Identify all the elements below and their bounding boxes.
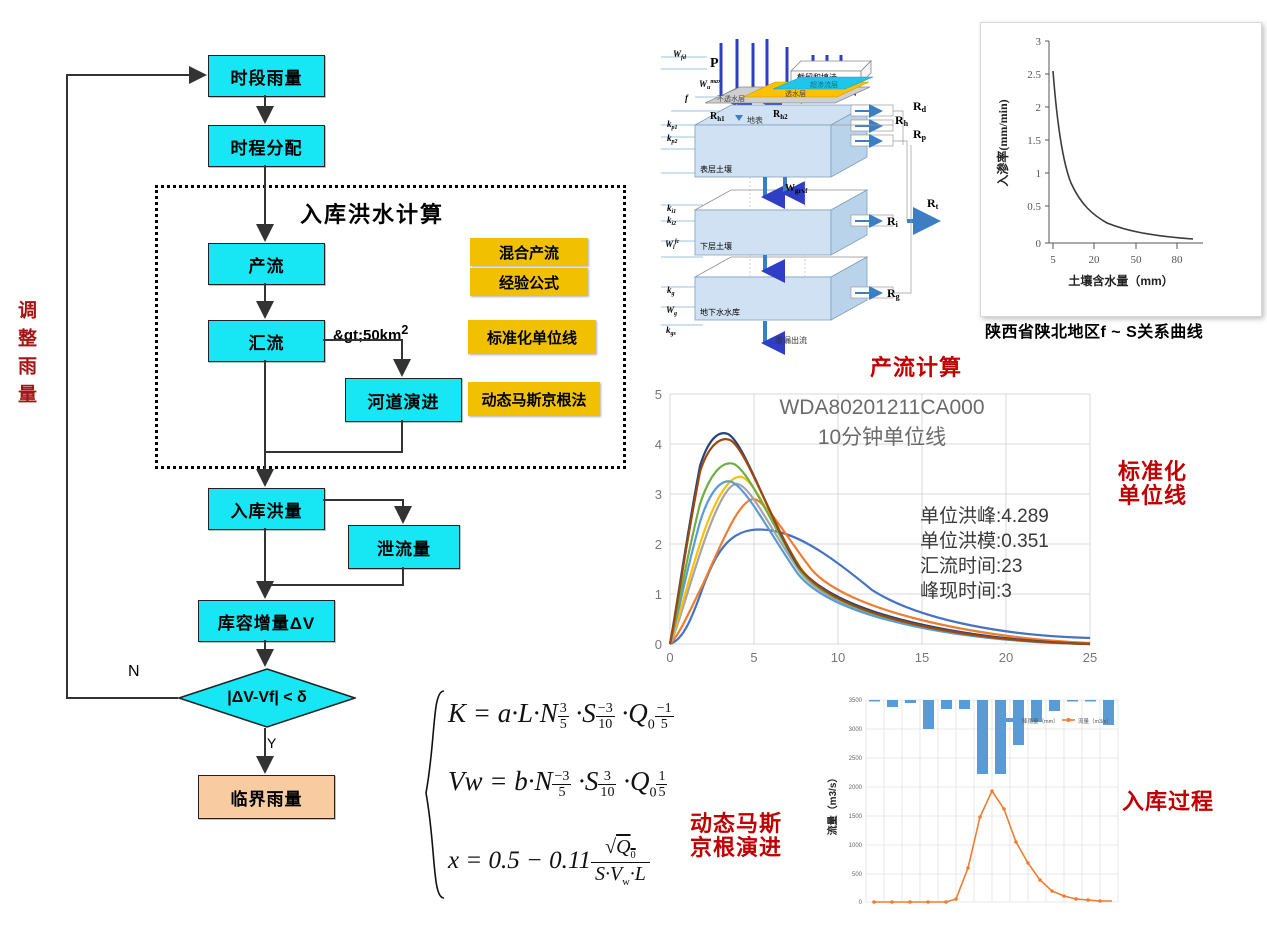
edge-label-yes: Y xyxy=(267,735,276,751)
svg-text:透水层: 透水层 xyxy=(785,89,806,98)
svg-text:80: 80 xyxy=(1172,254,1184,266)
svg-text:500: 500 xyxy=(852,872,863,878)
svg-text:Ri: Ri xyxy=(887,214,899,229)
inflow-red-label: 入库过程 xyxy=(1122,790,1214,814)
node-critical-rainfall[interactable]: 临界雨量 xyxy=(198,775,335,819)
svg-text:3: 3 xyxy=(655,487,662,502)
node-discharge[interactable]: 泄流量 xyxy=(348,525,460,569)
uh-annotation-modulus: 单位洪模:0.351 xyxy=(920,530,1049,552)
svg-text:0.5: 0.5 xyxy=(1027,201,1041,213)
svg-text:Rp: Rp xyxy=(913,127,927,142)
edge-label-no: N xyxy=(128,663,140,681)
muskingum-formulas: K = a·L·N35 ·S−310 ·Q0−15 Vw = b·N−35 ·S… xyxy=(418,688,708,903)
svg-text:2.5: 2.5 xyxy=(1027,69,1041,81)
runoff-generation-diagram: Wfd Wumax f kp1 kp2 ki1 ki2 Wlfc kg Wg k… xyxy=(655,25,975,360)
uh-subtitle: 10分钟单位线 xyxy=(818,426,946,449)
node-decision[interactable]: |ΔV-Vf| < δ xyxy=(178,668,356,728)
svg-text:Wumax: Wumax xyxy=(699,79,721,91)
groundwater-block: 地下水水库 xyxy=(695,257,867,320)
edge-label-area-text: &gt;50km xyxy=(333,327,401,344)
svg-text:Wgrvf: Wgrvf xyxy=(785,183,808,195)
svg-text:渗漏出流: 渗漏出流 xyxy=(775,335,807,345)
node-inflow-volume[interactable]: 入库洪量 xyxy=(208,488,325,530)
svg-text:下层土壤: 下层土壤 xyxy=(700,241,732,251)
formula-x: x = 0.5 − 0.11√Q0S·Vw·L xyxy=(448,836,650,889)
uh-annotation-conc-time: 汇流时间:23 xyxy=(920,555,1022,577)
uh-annotation-peak: 单位洪峰:4.289 xyxy=(920,505,1049,527)
svg-text:10: 10 xyxy=(831,650,845,662)
svg-text:ki2: ki2 xyxy=(667,215,676,227)
method-box-dynamic-muskingum[interactable]: 动态马斯京根法 xyxy=(468,382,600,416)
svg-text:2: 2 xyxy=(1036,102,1042,114)
unit-hydrograph-red-label: 标准化 单位线 xyxy=(1118,460,1187,508)
unit-hydrograph-svg: 543 210 0510 152025 WDA80201211CA000 10分… xyxy=(632,382,1100,662)
musk-red-line2: 京根演进 xyxy=(690,836,782,860)
flow-line xyxy=(874,791,1112,902)
method-box-mixed-runoff[interactable]: 混合产流 xyxy=(470,238,588,266)
svg-text:超渗流层: 超渗流层 xyxy=(810,80,838,89)
section-title: 入库洪水计算 xyxy=(300,197,444,229)
formula-K: K = a·L·N35 ·S−310 ·Q0−15 xyxy=(448,698,674,733)
svg-text:Rt: Rt xyxy=(927,196,939,211)
legend-rainfall: 降雨量（mm） xyxy=(1022,717,1059,725)
soil-diagram-svg: Wfd Wumax f kp1 kp2 ki1 ki2 Wlfc kg Wg k… xyxy=(655,25,975,360)
inflow-ylabel: 流量（m3/s） xyxy=(826,773,839,836)
node-time-distribution[interactable]: 时程分配 xyxy=(208,125,325,167)
precip-P-label: P xyxy=(710,56,719,71)
formula-Vw: Vw = b·N−35 ·S310 ·Q015 xyxy=(448,766,667,801)
infiltration-chart-card: 32.5 21.5 10.5 0 520 5080 入渗率(mm/min) 土壤… xyxy=(980,22,1262,317)
svg-text:20: 20 xyxy=(999,650,1013,662)
svg-text:Rh: Rh xyxy=(895,113,909,128)
infiltration-caption: 陕西省陕北地区f ~ S关系曲线 xyxy=(985,318,1203,342)
svg-text:不透水层: 不透水层 xyxy=(717,94,745,103)
node-concentration[interactable]: 汇流 xyxy=(208,320,325,362)
svg-text:0: 0 xyxy=(1036,238,1042,250)
svg-text:Wfd: Wfd xyxy=(673,49,687,61)
method-box-standard-unit-hydrograph[interactable]: 标准化单位线 xyxy=(468,320,596,354)
svg-text:0: 0 xyxy=(859,900,863,906)
muskingum-red-label: 动态马斯 京根演进 xyxy=(690,812,782,860)
lower-soil-block: 下层土壤 xyxy=(695,190,867,255)
infiltration-ylabel: 入渗率(mm/min) xyxy=(995,99,1010,186)
svg-text:1000: 1000 xyxy=(849,843,863,849)
infiltration-xlabel: 土壤含水量（mm） xyxy=(1068,273,1173,288)
node-runoff-generation[interactable]: 产流 xyxy=(208,243,325,285)
flow-markers xyxy=(872,789,1102,904)
svg-text:Rd: Rd xyxy=(913,99,927,114)
uh-annotation-peak-time: 峰现时间:3 xyxy=(920,580,1012,602)
svg-text:0: 0 xyxy=(666,650,673,662)
svg-text:3000: 3000 xyxy=(849,727,863,733)
decision-label: |ΔV-Vf| < δ xyxy=(178,668,356,728)
edge-label-area-sup: 2 xyxy=(401,323,408,337)
rainfall-bars xyxy=(869,700,1114,774)
unit-hydrograph-chart: 543 210 0510 152025 WDA80201211CA000 10分… xyxy=(632,382,1100,662)
method-box-empirical-formula[interactable]: 经验公式 xyxy=(470,268,588,296)
svg-text:表层土壤: 表层土壤 xyxy=(700,164,732,174)
svg-text:1500: 1500 xyxy=(849,814,863,820)
svg-text:f: f xyxy=(685,93,689,103)
legend-flow: 流量（m3/s） xyxy=(1078,717,1112,725)
svg-text:1: 1 xyxy=(1036,168,1042,180)
svg-text:Wlfc: Wlfc xyxy=(665,239,680,251)
infiltration-chart-svg: 32.5 21.5 10.5 0 520 5080 入渗率(mm/min) 土壤… xyxy=(981,23,1259,314)
svg-text:Rg: Rg xyxy=(887,286,900,301)
svg-text:0: 0 xyxy=(655,637,662,652)
svg-text:2: 2 xyxy=(655,537,662,552)
svg-text:2500: 2500 xyxy=(849,756,863,762)
svg-text:3500: 3500 xyxy=(849,698,863,704)
svg-text:4: 4 xyxy=(655,437,662,452)
inflow-process-chart: 350030002500 200015001000 5000 xyxy=(822,686,1122,918)
svg-text:地下水水库: 地下水水库 xyxy=(700,307,740,317)
svg-text:1.5: 1.5 xyxy=(1027,135,1041,147)
uh-title: WDA80201211CA000 xyxy=(779,396,984,419)
svg-text:5: 5 xyxy=(1050,254,1056,266)
svg-text:20: 20 xyxy=(1089,254,1101,266)
svg-text:2000: 2000 xyxy=(849,785,863,791)
svg-text:kp1: kp1 xyxy=(667,119,678,131)
musk-red-line1: 动态马斯 xyxy=(690,812,782,836)
svg-text:15: 15 xyxy=(915,650,929,662)
uh-red-line2: 单位线 xyxy=(1118,484,1187,508)
inflow-chart-svg: 350030002500 200015001000 5000 xyxy=(822,686,1122,918)
node-rain-period[interactable]: 时段雨量 xyxy=(208,55,325,97)
surface-slab: 不透水层 透水层 超渗流层 xyxy=(705,77,873,103)
svg-text:kgs: kgs xyxy=(666,325,677,337)
runoff-generation-caption: 产流计算 xyxy=(870,350,962,382)
svg-text:kp2: kp2 xyxy=(667,133,678,145)
node-storage-delta[interactable]: 库容增量ΔV xyxy=(198,600,335,642)
node-river-routing[interactable]: 河道演进 xyxy=(345,378,462,422)
inflow-legend: 降雨量（mm） 流量（m3/s） xyxy=(1006,717,1112,725)
edge-label-area-threshold: &gt;50km2 xyxy=(333,323,408,344)
svg-text:3: 3 xyxy=(1036,36,1042,48)
svg-text:5: 5 xyxy=(750,650,757,662)
svg-text:25: 25 xyxy=(1083,650,1097,662)
svg-text:5: 5 xyxy=(655,387,662,402)
svg-text:50: 50 xyxy=(1131,254,1143,266)
svg-text:地表: 地表 xyxy=(747,115,763,125)
svg-text:1: 1 xyxy=(655,587,662,602)
adjust-rainfall-label: 调整雨量 xyxy=(12,300,39,412)
uh-red-line1: 标准化 xyxy=(1118,460,1187,484)
